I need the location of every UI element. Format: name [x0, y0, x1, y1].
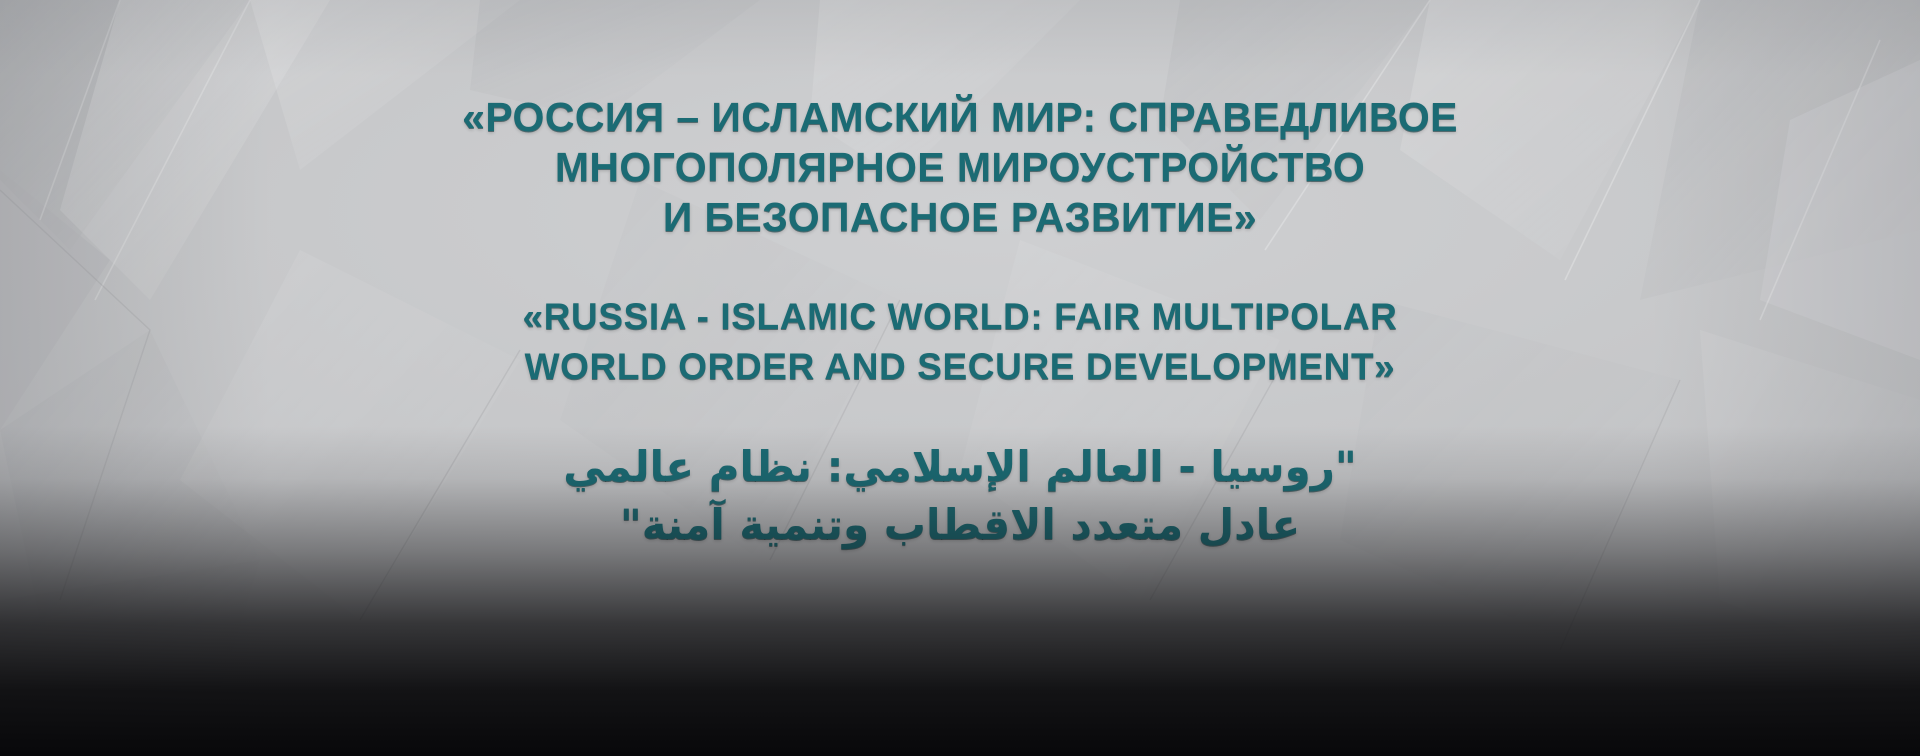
- title-russian-line-2: МНОГОПОЛЯРНОЕ МИРОУСТРОЙСТВО: [0, 142, 1920, 192]
- title-arabic: "روسيا - العالم الإسلامي: نظام عالمي عاد…: [0, 438, 1920, 554]
- title-russian: «РОССИЯ – ИСЛАМСКИЙ МИР: СПРАВЕДЛИВОЕ МН…: [0, 92, 1920, 242]
- slide-content: «РОССИЯ – ИСЛАМСКИЙ МИР: СПРАВЕДЛИВОЕ МН…: [0, 0, 1920, 756]
- title-english-line-2: WORLD ORDER AND SECURE DEVELOPMENT»: [0, 342, 1920, 392]
- title-russian-line-1: «РОССИЯ – ИСЛАМСКИЙ МИР: СПРАВЕДЛИВОЕ: [0, 92, 1920, 142]
- title-arabic-line-2: عادل متعدد الاقطاب وتنمية آمنة": [0, 496, 1920, 554]
- title-english: «RUSSIA - ISLAMIC WORLD: FAIR MULTIPOLAR…: [0, 292, 1920, 392]
- title-slide: «РОССИЯ – ИСЛАМСКИЙ МИР: СПРАВЕДЛИВОЕ МН…: [0, 0, 1920, 756]
- title-arabic-line-1: "روسيا - العالم الإسلامي: نظام عالمي: [0, 438, 1920, 496]
- title-english-line-1: «RUSSIA - ISLAMIC WORLD: FAIR MULTIPOLAR: [0, 292, 1920, 342]
- title-russian-line-3: И БЕЗОПАСНОЕ РАЗВИТИЕ»: [0, 192, 1920, 242]
